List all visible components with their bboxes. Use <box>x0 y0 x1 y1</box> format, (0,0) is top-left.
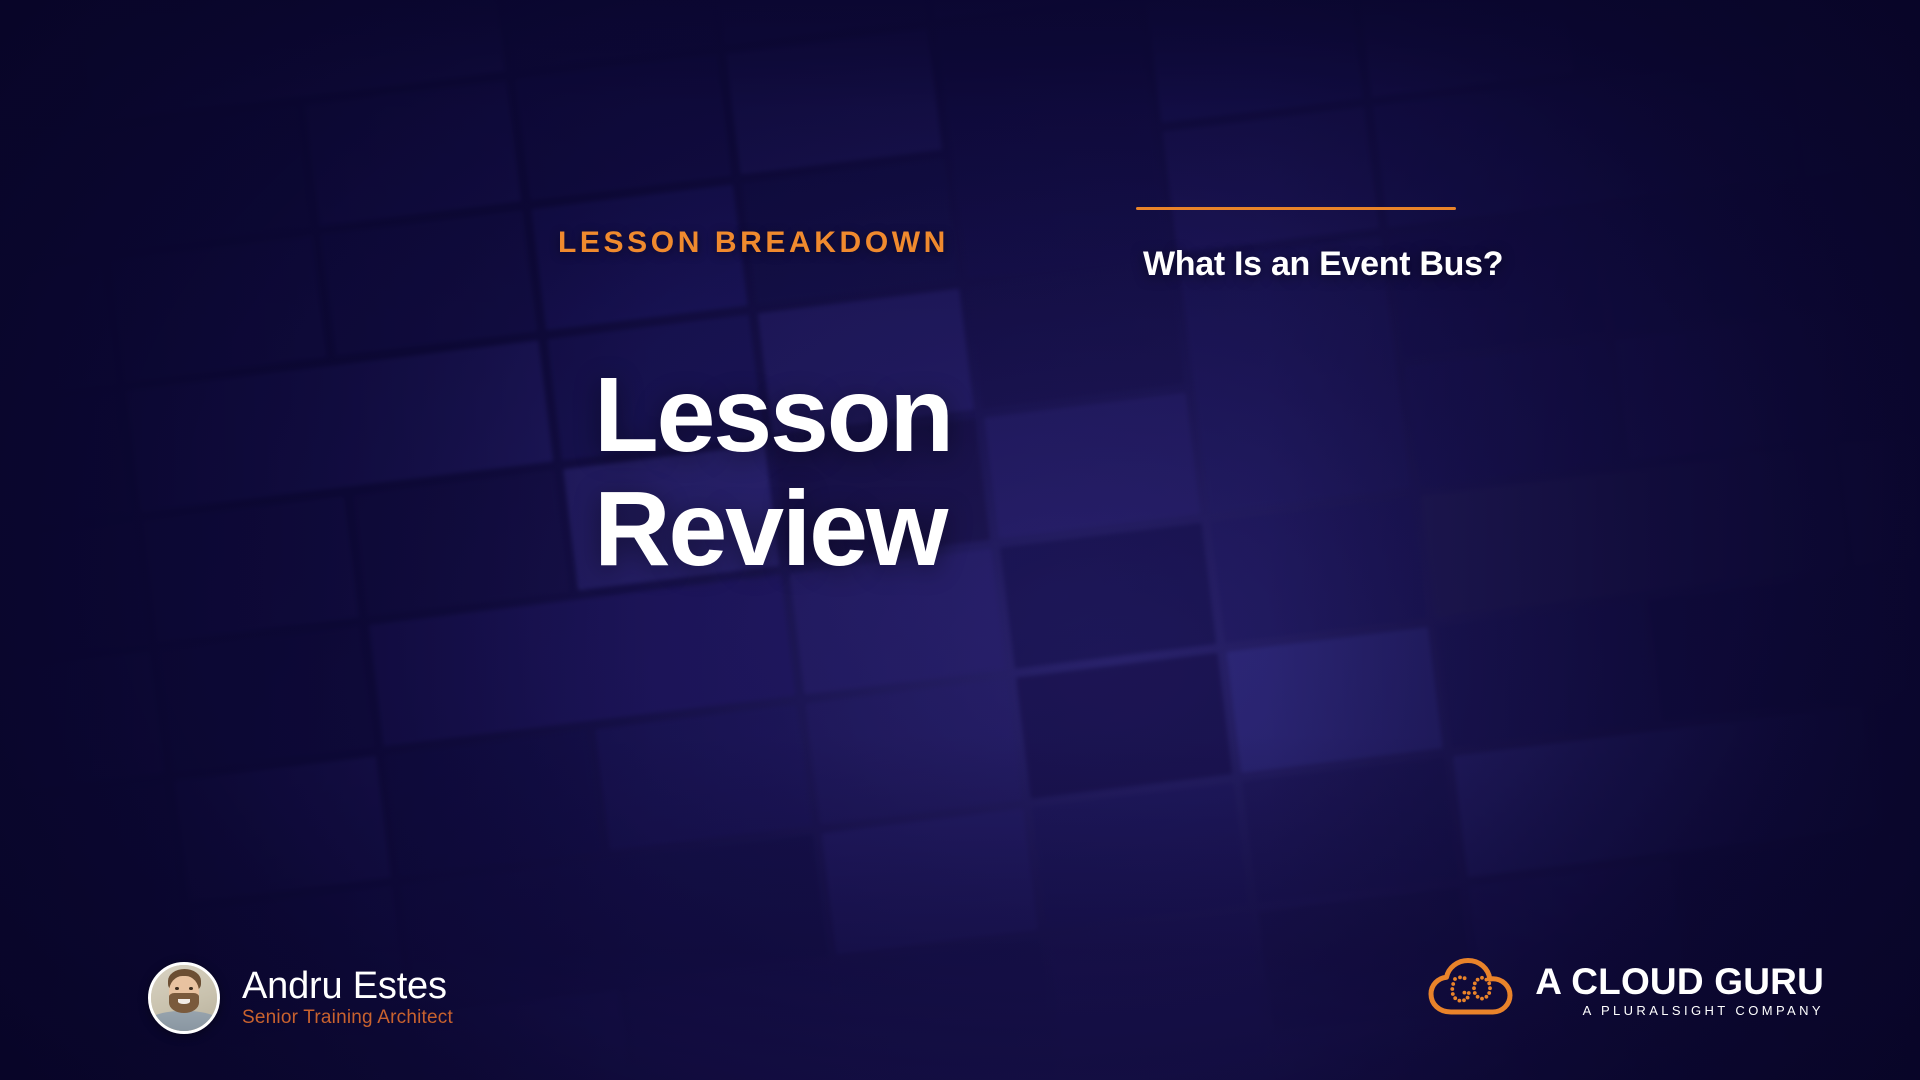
brand-logo: A CLOUD GURU A PLURALSIGHT COMPANY <box>1427 958 1824 1021</box>
lesson-question-title: What Is an Event Bus? <box>1143 245 1503 284</box>
page-title-line-2: Review <box>594 472 952 586</box>
avatar-shoulders <box>148 1011 220 1034</box>
speaker-role: Senior Training Architect <box>242 1007 453 1029</box>
brand-name: A CLOUD GURU <box>1535 963 1824 1000</box>
eyebrow-label: LESSON BREAKDOWN <box>558 226 949 260</box>
page-title: Lesson Review <box>594 358 952 587</box>
slide-content: LESSON BREAKDOWN What Is an Event Bus? L… <box>0 0 1920 1080</box>
brand-text: A CLOUD GURU A PLURALSIGHT COMPANY <box>1535 963 1824 1017</box>
slide-canvas: LESSON BREAKDOWN What Is an Event Bus? L… <box>0 0 1920 1080</box>
speaker-block: Andru Estes Senior Training Architect <box>148 962 453 1034</box>
avatar-eye-right <box>189 987 193 990</box>
cloud-icon <box>1427 958 1515 1021</box>
speaker-name: Andru Estes <box>242 967 453 1007</box>
avatar <box>148 962 220 1034</box>
brand-tagline: A PLURALSIGHT COMPANY <box>1583 1004 1824 1017</box>
page-title-line-1: Lesson <box>594 358 952 472</box>
speaker-text: Andru Estes Senior Training Architect <box>242 967 453 1030</box>
accent-rule <box>1136 207 1456 210</box>
avatar-mouth <box>178 999 190 1004</box>
avatar-eye-left <box>175 987 179 990</box>
